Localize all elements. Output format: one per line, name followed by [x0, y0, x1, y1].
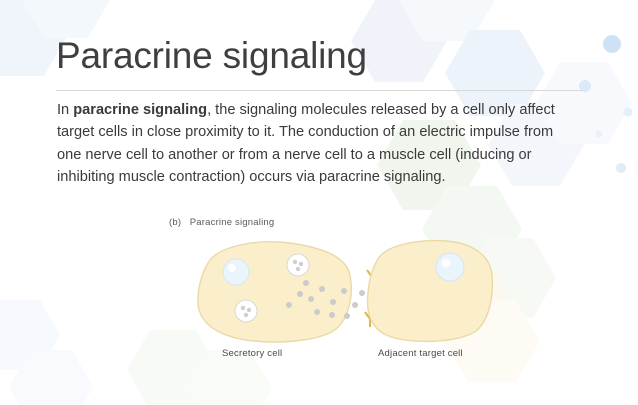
paracrine-signaling-figure: (b) Paracrine signaling	[150, 215, 510, 380]
figure-caption-text: Paracrine signaling	[190, 217, 275, 228]
body-text-part-1: In	[57, 102, 73, 118]
figure-caption: (b) Paracrine signaling	[169, 217, 274, 228]
adjacent-target-cell-icon	[368, 241, 493, 342]
page-title: Paracrine signaling	[56, 34, 367, 78]
secretory-cell-icon	[198, 242, 351, 342]
decorative-dots-icon	[579, 35, 633, 173]
secretory-cell-label: Secretory cell	[222, 348, 282, 359]
figure-caption-label: (b)	[169, 217, 181, 228]
body-text-emphasis: paracrine signaling	[73, 102, 207, 118]
adjacent-target-cell-label: Adjacent target cell	[378, 348, 463, 359]
slide: Paracrine signaling In paracrine signali…	[0, 0, 638, 405]
body-paragraph: In paracrine signaling, the signaling mo…	[57, 99, 579, 188]
title-divider	[56, 90, 583, 91]
